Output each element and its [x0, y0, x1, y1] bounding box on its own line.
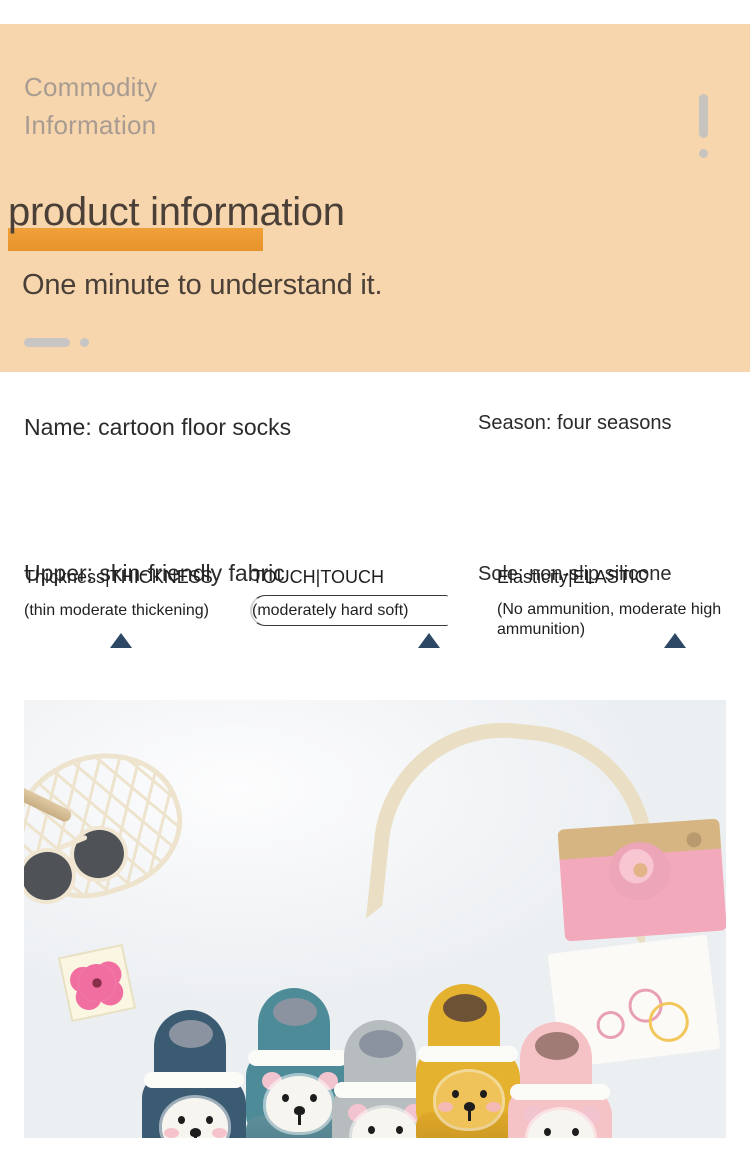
attribute-scale-label: (No ammunition, moderate high ammunition…: [497, 600, 733, 640]
sock-cheek: [438, 1102, 453, 1112]
exclamation-mark-icon: [699, 94, 708, 158]
flower-icon: [74, 960, 119, 1005]
sock-trim: [418, 1046, 518, 1062]
sock-eye: [206, 1116, 213, 1124]
flower-sticker-prop: [58, 944, 136, 1022]
pagination-active-indicator[interactable]: [24, 338, 70, 347]
scale-marker-triangle-icon: [418, 633, 440, 648]
attribute-title: Elasticity|ELASTIC: [497, 565, 733, 589]
spec-name: Name: cartoon floor socks: [24, 414, 291, 441]
attribute-elasticity: Elasticity|ELASTIC (No ammunition, moder…: [497, 565, 733, 640]
camera-lens-center: [633, 863, 648, 878]
sock-trim: [510, 1084, 610, 1100]
spec-list: Name: cartoon floor socks Season: four s…: [0, 372, 750, 520]
attribute-title: Thickness|THICKNESS: [24, 565, 234, 589]
sock-eye: [544, 1128, 551, 1136]
page-subtitle: One minute to understand it.: [22, 264, 382, 306]
sock-eye: [368, 1126, 375, 1134]
exclamation-dot: [699, 149, 708, 158]
sock-eye: [310, 1094, 317, 1102]
sock-opening: [273, 998, 317, 1026]
sock-opening: [169, 1020, 213, 1048]
sock-mouth: [468, 1110, 471, 1121]
page-title: product information: [8, 187, 345, 237]
scale-marker-triangle-icon: [664, 633, 686, 648]
pagination-dot[interactable]: [80, 338, 89, 347]
sock-mouth: [194, 1136, 197, 1138]
sock-trim: [248, 1050, 348, 1066]
sock-eye: [480, 1090, 487, 1098]
attribute-touch: TOUCH|TOUCH (moderately hard soft): [252, 565, 462, 621]
spec-season: Season: four seasons: [478, 412, 671, 435]
sock-eye: [282, 1094, 289, 1102]
toy-camera: [559, 842, 726, 941]
sock-cheek: [164, 1128, 179, 1138]
sock-eye: [572, 1128, 579, 1136]
product-photo[interactable]: [24, 700, 726, 1138]
banner: Commodity Information product informatio…: [0, 24, 750, 372]
attribute-thickness: Thickness|THICKNESS (thin moderate thick…: [24, 565, 234, 621]
sock-mouth: [298, 1114, 301, 1125]
banner-eyebrow-text: Commodity Information: [24, 68, 324, 144]
exclamation-bar: [699, 94, 708, 138]
sock-eye: [178, 1116, 185, 1124]
sock-cheek: [486, 1102, 501, 1112]
attribute-title: TOUCH|TOUCH: [252, 565, 462, 589]
sock-opening: [443, 994, 487, 1022]
sock-opening: [359, 1030, 403, 1058]
sock-eye: [396, 1126, 403, 1134]
sock-opening: [535, 1032, 579, 1060]
sock-cheek: [212, 1128, 227, 1138]
spec-row: Name: cartoon floor socks Season: four s…: [0, 372, 750, 446]
scale-marker-triangle-icon: [110, 633, 132, 648]
sock-trim: [144, 1072, 244, 1088]
spec-row: Upper: skin-friendly fabric Sole: non-sl…: [0, 446, 750, 520]
sock-eye: [452, 1090, 459, 1098]
carousel-pagination[interactable]: [24, 338, 89, 347]
attribute-scale-label: (moderately hard soft): [252, 600, 462, 621]
flower-outline-icon: [595, 1009, 626, 1040]
attribute-scale-label: (thin moderate thickening): [24, 600, 234, 621]
attribute-scales: Thickness|THICKNESS (thin moderate thick…: [0, 565, 750, 675]
